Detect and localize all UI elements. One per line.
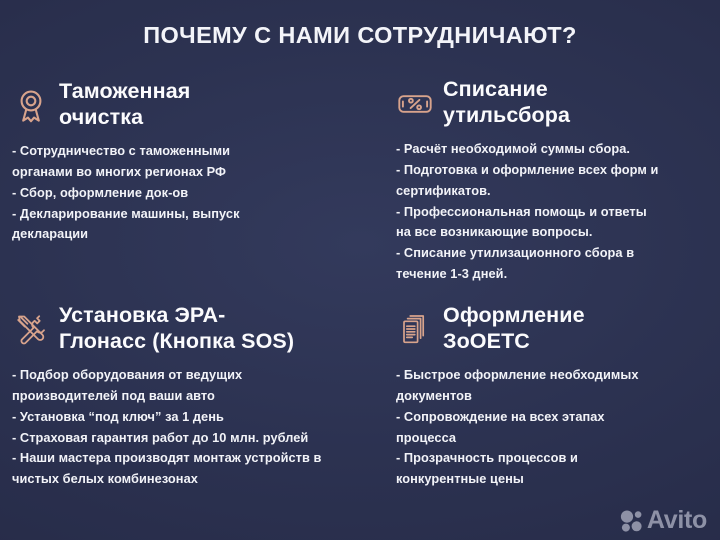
card-title: Установка ЭРА- Глонасс (Кнопка SOS) (59, 302, 294, 354)
card-title-line-2: ЗоОЕТС (443, 329, 530, 353)
card-title-line-1: Оформление (443, 303, 585, 327)
bullet-line: - Наши мастера производят монтаж устройс… (12, 448, 374, 469)
card-header: Установка ЭРА- Глонасс (Кнопка SOS) (12, 302, 374, 354)
bullet-line: процесса (396, 428, 708, 449)
bullet-line: сертификатов. (396, 181, 708, 202)
promo-poster: ПОЧЕМУ С НАМИ СОТРУДНИЧАЮТ? Таможенная о… (0, 0, 720, 540)
card-body: - Быстрое оформление необходимых докумен… (396, 365, 708, 489)
bullet-line: документов (396, 386, 708, 407)
bullet-line: - Списание утилизационного сбора в (396, 243, 708, 264)
card-title-line-2: утильсбора (443, 103, 570, 127)
bullet-line: - Установка “под ключ” за 1 день (12, 407, 374, 428)
feature-card-zooets-registration: Оформление ЗоОЕТС - Быстрое оформление н… (396, 302, 708, 490)
card-header: Таможенная очистка (12, 78, 352, 130)
feature-card-customs-clearance: Таможенная очистка - Сотрудничество с та… (12, 78, 352, 245)
avito-dots-icon (620, 509, 643, 532)
feature-card-recycling-fee-writeoff: Списание утильсбора - Расчёт необходимой… (396, 76, 708, 284)
bullet-line: конкурентные цены (396, 469, 708, 490)
card-title-line-1: Установка ЭРА- (59, 303, 225, 327)
bullet-line: течение 1-3 дней. (396, 264, 708, 285)
bullet-line: - Сбор, оформление док-ов (12, 183, 352, 204)
card-title-line-2: Глонасс (Кнопка SOS) (59, 329, 294, 353)
bullet-line: - Прозрачность процессов и (396, 448, 708, 469)
bullet-line: - Быстрое оформление необходимых (396, 365, 708, 386)
avito-wordmark: Avito (647, 508, 707, 533)
card-title: Таможенная очистка (59, 78, 190, 130)
bullet-line: - Профессиональная помощь и ответы (396, 202, 708, 223)
bullet-line: на все возникающие вопросы. (396, 222, 708, 243)
card-header: Оформление ЗоОЕТС (396, 302, 708, 354)
bullet-line: - Декларирование машины, выпуск (12, 204, 352, 225)
bullet-line: декларации (12, 224, 352, 245)
award-medal-icon (12, 84, 50, 128)
documents-stack-icon (396, 308, 434, 352)
bullet-line: производителей под ваши авто (12, 386, 374, 407)
bullet-line: - Сотрудничество с таможенными (12, 141, 352, 162)
card-title-line-2: очистка (59, 105, 143, 129)
percent-tag-icon (396, 82, 434, 126)
avito-watermark: Avito (620, 508, 707, 533)
card-title: Списание утильсбора (443, 76, 570, 128)
card-title-line-1: Таможенная (59, 79, 190, 103)
card-body: - Сотрудничество с таможенными органами … (12, 141, 352, 245)
bullet-line: органами во многих регионах РФ (12, 162, 352, 183)
card-header: Списание утильсбора (396, 76, 708, 128)
bullet-line: - Расчёт необходимой суммы сбора. (396, 139, 708, 160)
card-body: - Расчёт необходимой суммы сбора. - Подг… (396, 139, 708, 284)
card-title: Оформление ЗоОЕТС (443, 302, 585, 354)
features-grid: Таможенная очистка - Сотрудничество с та… (0, 78, 720, 530)
bullet-line: - Подготовка и оформление всех форм и (396, 160, 708, 181)
feature-card-era-glonass-installation: Установка ЭРА- Глонасс (Кнопка SOS) - По… (12, 302, 374, 490)
wrench-screwdriver-icon (12, 308, 50, 352)
bullet-line: чистых белых комбинезонах (12, 469, 374, 490)
bullet-line: - Сопровождение на всех этапах (396, 407, 708, 428)
bullet-line: - Страховая гарантия работ до 10 млн. ру… (12, 428, 374, 449)
card-title-line-1: Списание (443, 77, 548, 101)
page-title: ПОЧЕМУ С НАМИ СОТРУДНИЧАЮТ? (0, 22, 720, 49)
bullet-line: - Подбор оборудования от ведущих (12, 365, 374, 386)
card-body: - Подбор оборудования от ведущих произво… (12, 365, 374, 489)
